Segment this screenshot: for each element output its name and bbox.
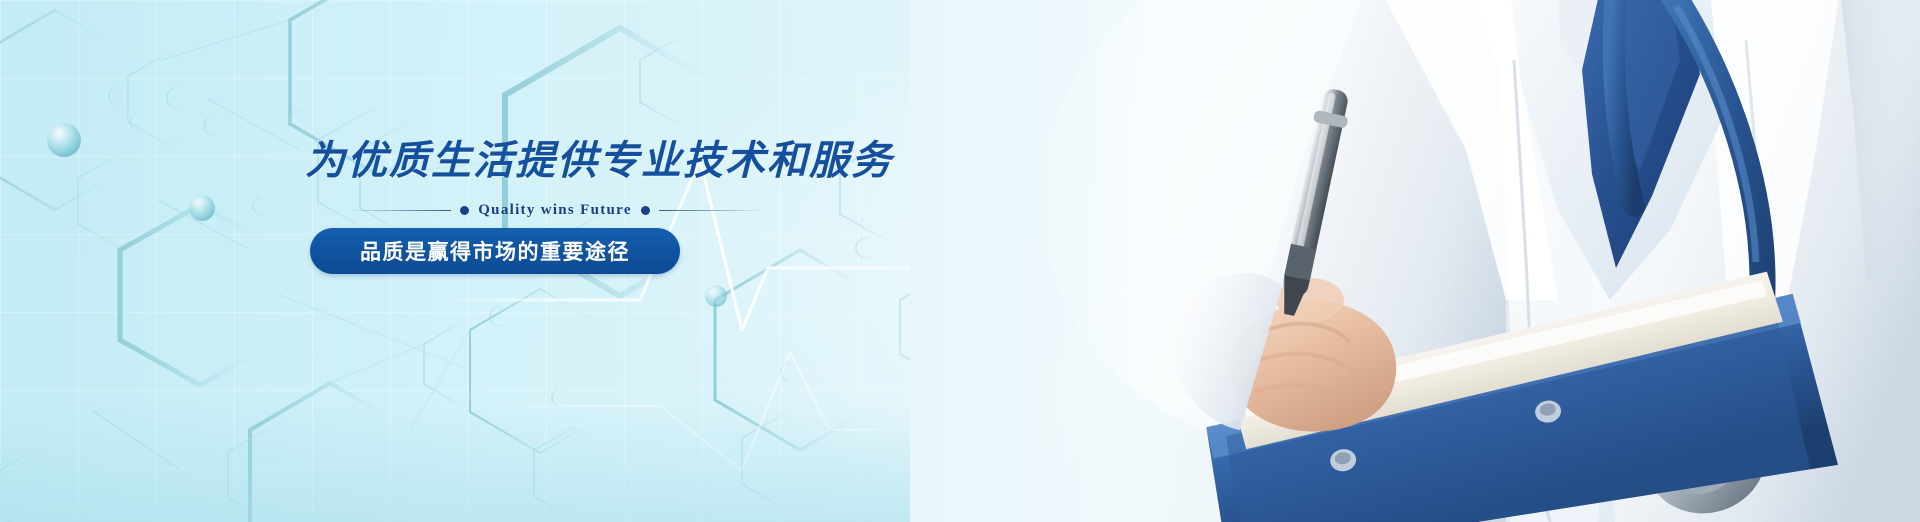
divider-dot-left bbox=[460, 206, 469, 215]
hero-banner: 为优质生活提供专业技术和服务 Quality wins Future 品质是赢得… bbox=[0, 0, 1920, 522]
banner-tagline: Quality wins Future bbox=[478, 202, 632, 219]
banner-content: 为优质生活提供专业技术和服务 Quality wins Future 品质是赢得… bbox=[0, 0, 900, 522]
doctor-photo bbox=[910, 0, 1920, 522]
photo-left-fade bbox=[910, 0, 1170, 522]
banner-headline: 为优质生活提供专业技术和服务 bbox=[305, 128, 893, 186]
divider-dot-right bbox=[641, 206, 650, 215]
slogan-pill-label: 品质是赢得市场的重要途径 bbox=[360, 236, 630, 266]
divider-rule-left bbox=[345, 210, 451, 211]
slogan-pill-button[interactable]: 品质是赢得市场的重要途径 bbox=[310, 228, 680, 274]
divider-rule-right bbox=[659, 210, 765, 211]
tagline-divider: Quality wins Future bbox=[345, 202, 765, 219]
